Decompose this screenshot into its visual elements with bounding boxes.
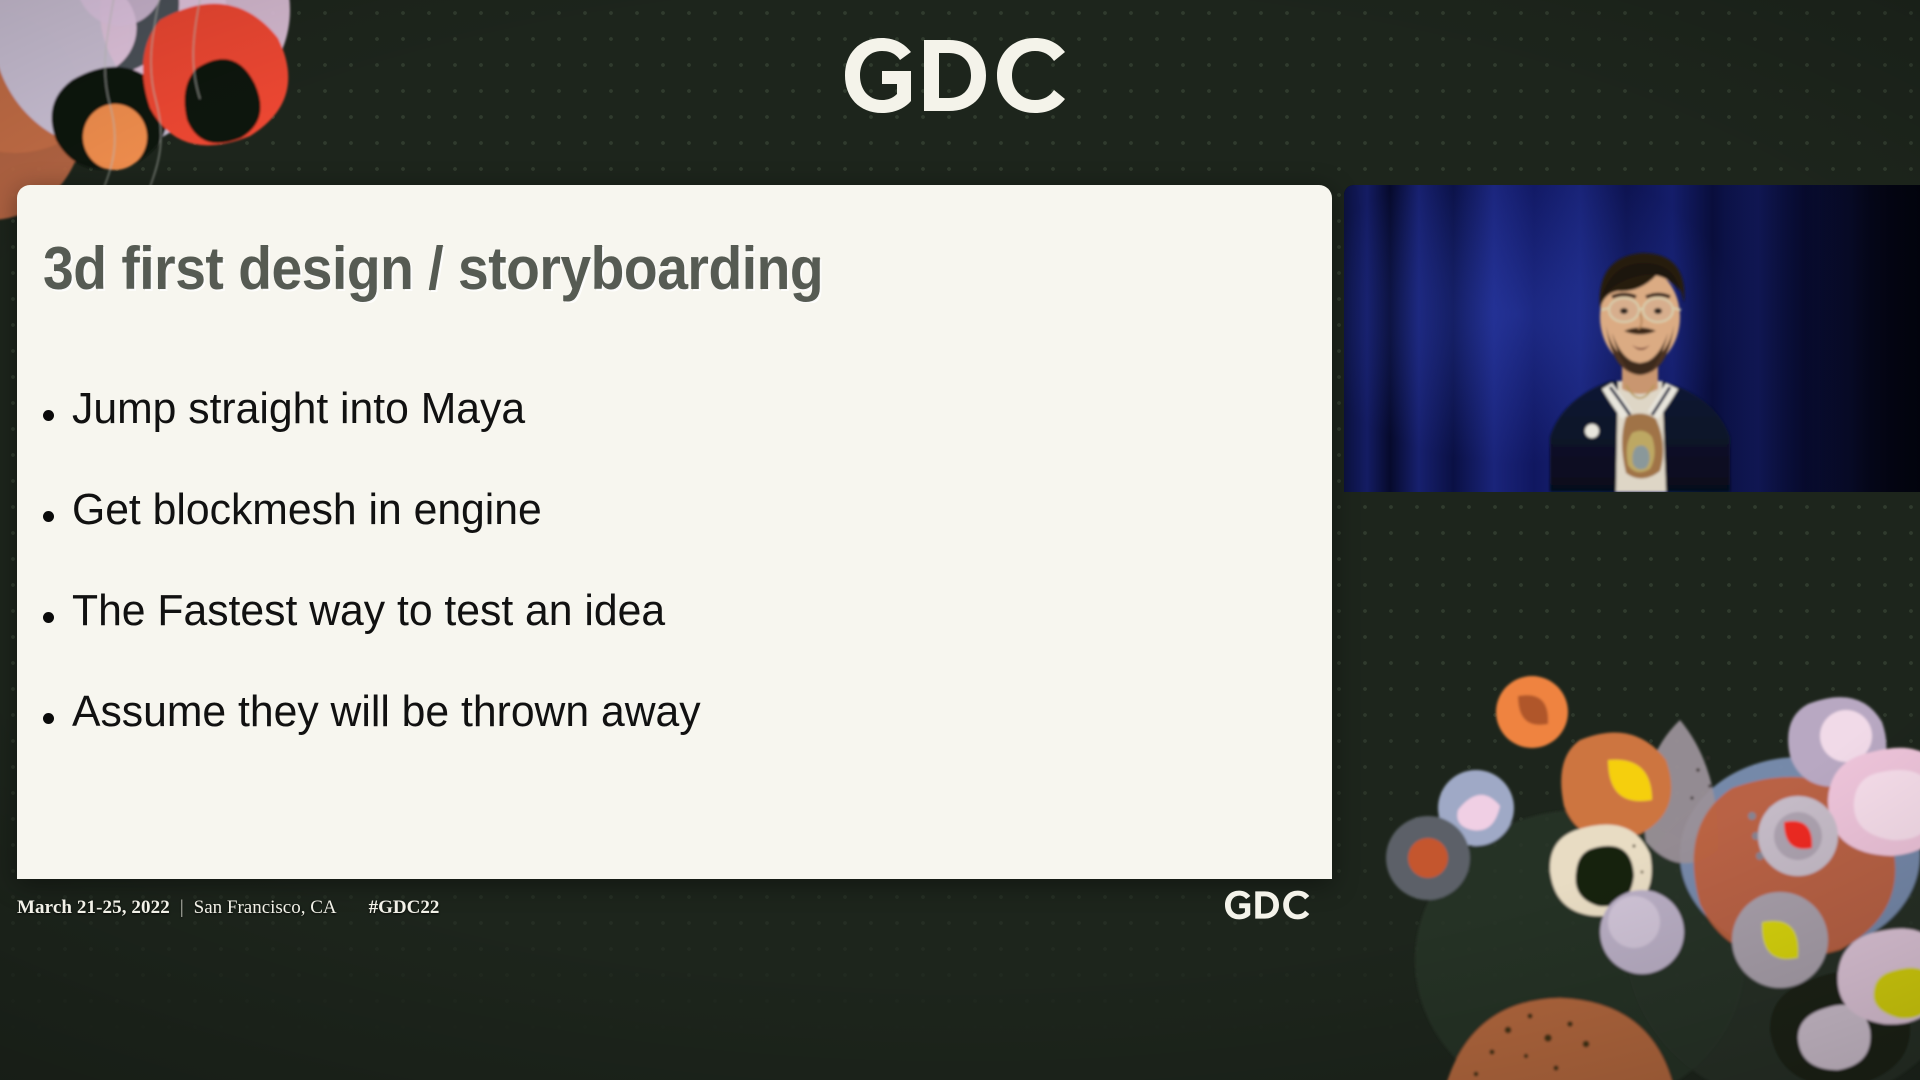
bullet-label: Jump straight into Maya [72, 386, 525, 432]
bullet-label: The Fastest way to test an idea [72, 588, 665, 634]
event-footer: March 21-25, 2022 | San Francisco, CA #G… [17, 897, 439, 919]
bullet-label: Assume they will be thrown away [72, 689, 701, 735]
presentation-screen: 3d first design / storyboarding Jump str… [0, 0, 1920, 1080]
bullet-item: Get blockmesh in engine [43, 487, 1193, 588]
gdc-logo-footer [1225, 888, 1315, 922]
bullet-item: Assume they will be thrown away [43, 689, 1193, 790]
speaker-video-panel[interactable] [1344, 185, 1920, 492]
bullet-point-icon [43, 511, 54, 522]
footer-date: March 21-25, 2022 [17, 897, 170, 919]
bullet-label: Get blockmesh in engine [72, 487, 542, 533]
bullet-point-icon [43, 410, 54, 421]
bullet-point-icon [43, 612, 54, 623]
footer-separator: | [180, 897, 184, 919]
bullet-point-icon [43, 713, 54, 724]
slide-bullet-list: Jump straight into Maya Get blockmesh in… [43, 386, 1193, 790]
bullet-item: Jump straight into Maya [43, 386, 1193, 487]
decorative-artwork-bottom-right [1380, 640, 1920, 1080]
footer-hashtag: #GDC22 [369, 897, 440, 919]
speaker-figure [1344, 185, 1920, 492]
bullet-item: The Fastest way to test an idea [43, 588, 1193, 689]
footer-city: San Francisco, CA [194, 897, 337, 919]
gdc-logo-top [845, 38, 1080, 113]
slide-title: 3d first design / storyboarding [43, 234, 823, 303]
